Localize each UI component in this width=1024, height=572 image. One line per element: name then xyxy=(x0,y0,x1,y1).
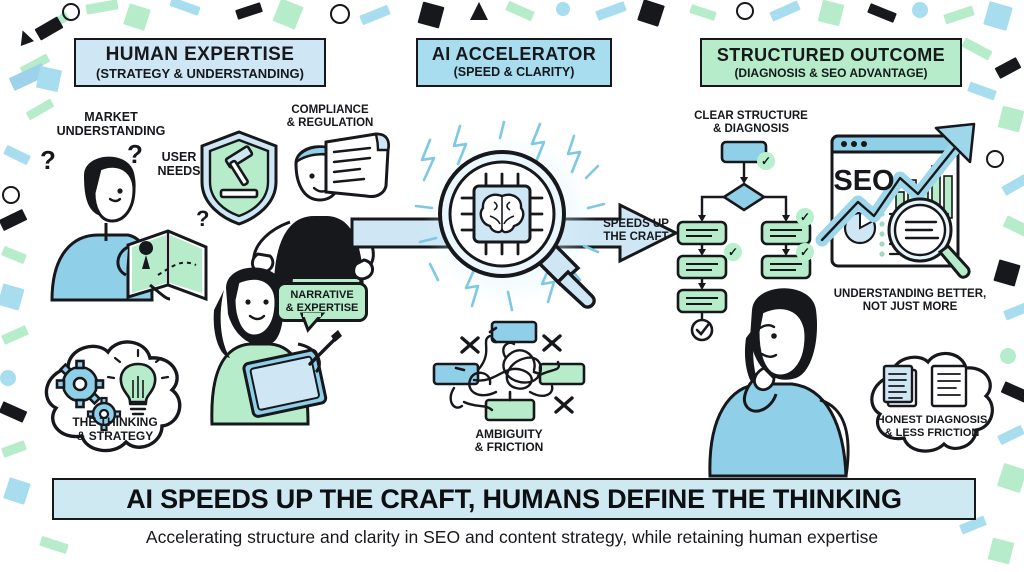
thought-cloud-honest-diagnosis xyxy=(862,348,1002,458)
confetti-rect-9 xyxy=(123,3,151,31)
check-badge-3: ✓ xyxy=(724,243,742,261)
header-structured-outcome: STRUCTURED OUTCOME (DIAGNOSIS & SEO ADVA… xyxy=(700,38,962,87)
confetti-rect-51 xyxy=(3,477,31,505)
confetti-rect-28 xyxy=(983,1,1013,31)
confetti-rect-23 xyxy=(769,0,800,21)
confetti-dot-26 xyxy=(912,2,928,18)
header-ai-subtitle: (SPEED & CLARITY) xyxy=(454,66,575,79)
confetti-tri-16 xyxy=(470,2,488,20)
confetti-rect-31 xyxy=(967,82,997,101)
confetti-rect-47 xyxy=(1,325,29,345)
confetti-rect-19 xyxy=(595,1,627,21)
confetti-rect-39 xyxy=(1001,381,1024,403)
bottom-banner: AI SPEEDS UP THE CRAFT, HUMANS DEFINE TH… xyxy=(52,478,976,520)
label-ambiguity-friction: AMBIGUITY & FRICTION xyxy=(444,428,574,455)
confetti-rect-17 xyxy=(505,1,535,22)
confetti-rect-24 xyxy=(818,0,845,26)
confetti-ring-22 xyxy=(736,2,754,20)
header-outcome-title: STRUCTURED OUTCOME xyxy=(717,46,945,65)
confetti-rect-20 xyxy=(637,0,665,27)
confetti-dot-38 xyxy=(1000,348,1016,364)
banner-headline: AI SPEEDS UP THE CRAFT, HUMANS DEFINE TH… xyxy=(126,484,902,515)
banner-subtitle: Accelerating structure and clarity in SE… xyxy=(0,527,1024,548)
confetti-rect-42 xyxy=(3,145,31,165)
confetti-rect-2 xyxy=(34,16,63,40)
confetti-rect-49 xyxy=(0,401,27,423)
confetti-rect-15 xyxy=(418,2,445,29)
confetti-rect-45 xyxy=(1,246,27,264)
check-badge-4: ✓ xyxy=(796,243,814,261)
header-human-subtitle: (STRATEGY & UNDERSTANDING) xyxy=(96,67,304,81)
confetti-rect-21 xyxy=(689,4,717,21)
confetti-rect-50 xyxy=(1,440,27,458)
confetti-ring-7 xyxy=(62,3,80,21)
confetti-rect-27 xyxy=(943,6,975,25)
confetti-rect-1 xyxy=(36,12,70,38)
confetti-rect-34 xyxy=(1001,174,1024,196)
magnifier-icon xyxy=(432,148,596,308)
label-market-understanding: MARKET UNDERSTANDING xyxy=(36,110,186,138)
label-thinking-strategy: THE THINKING & STRATEGY xyxy=(42,416,188,444)
confetti-rect-12 xyxy=(272,0,303,30)
confetti-rect-35 xyxy=(1003,215,1024,236)
callout-tail-narrative xyxy=(300,314,326,332)
confetti-rect-5 xyxy=(36,66,62,92)
header-ai-accelerator: AI ACCELERATOR (SPEED & CLARITY) xyxy=(416,38,612,87)
person-with-tablet-illustration xyxy=(186,244,336,424)
confetti-rect-3 xyxy=(20,53,51,75)
confetti-ring-43 xyxy=(2,186,20,204)
confetti-rect-32 xyxy=(998,106,1024,133)
confetti-rect-10 xyxy=(169,0,200,16)
header-human-title: HUMAN EXPERTISE xyxy=(106,45,295,65)
confetti-rect-41 xyxy=(997,463,1024,493)
flow-node-a1 xyxy=(678,222,726,244)
ambiguity-tangle-illustration xyxy=(434,322,586,422)
label-compliance-regulation: COMPLIANCE & REGULATION xyxy=(270,104,390,130)
check-badge-2: ✓ xyxy=(796,208,814,226)
confetti-rect-4 xyxy=(9,63,48,91)
confetti-rect-29 xyxy=(961,38,992,61)
flow-node-decision xyxy=(724,184,764,210)
confetti-rect-30 xyxy=(995,57,1022,79)
seo-dashboard-illustration: SEO xyxy=(818,118,994,284)
confetti-rect-14 xyxy=(359,5,391,26)
header-outcome-subtitle: (DIAGNOSIS & SEO ADVANTAGE) xyxy=(734,67,927,80)
document-scroll-icon xyxy=(320,128,396,202)
flow-node-a2 xyxy=(678,256,726,278)
confetti-dot-48 xyxy=(0,370,16,386)
confetti-rect-11 xyxy=(235,2,263,20)
header-ai-title: AI ACCELERATOR xyxy=(432,45,596,64)
confetti-rect-37 xyxy=(1003,301,1024,320)
label-honest-diagnosis: HONEST DIAGNOSIS & LESS FRICTION xyxy=(866,414,998,439)
confetti-rect-46 xyxy=(0,283,25,310)
confetti-dot-18 xyxy=(556,2,570,16)
confetti-rect-8 xyxy=(85,0,118,15)
confetti-ring-13 xyxy=(330,4,350,24)
confetti-tri-0 xyxy=(16,28,34,46)
confetti-rect-25 xyxy=(867,3,897,23)
infographic-canvas: HUMAN EXPERTISE (STRATEGY & UNDERSTANDIN… xyxy=(0,0,1024,572)
check-badge-1: ✓ xyxy=(757,152,775,170)
seo-label: SEO xyxy=(833,165,894,197)
header-human-expertise: HUMAN EXPERTISE (STRATEGY & UNDERSTANDIN… xyxy=(74,38,326,87)
confetti-rect-36 xyxy=(993,259,1020,286)
label-clear-structure-diagnosis: CLEAR STRUCTURE & DIAGNOSIS xyxy=(676,110,826,136)
person-thinking-illustration xyxy=(700,276,870,476)
confetti-rect-44 xyxy=(0,209,27,231)
